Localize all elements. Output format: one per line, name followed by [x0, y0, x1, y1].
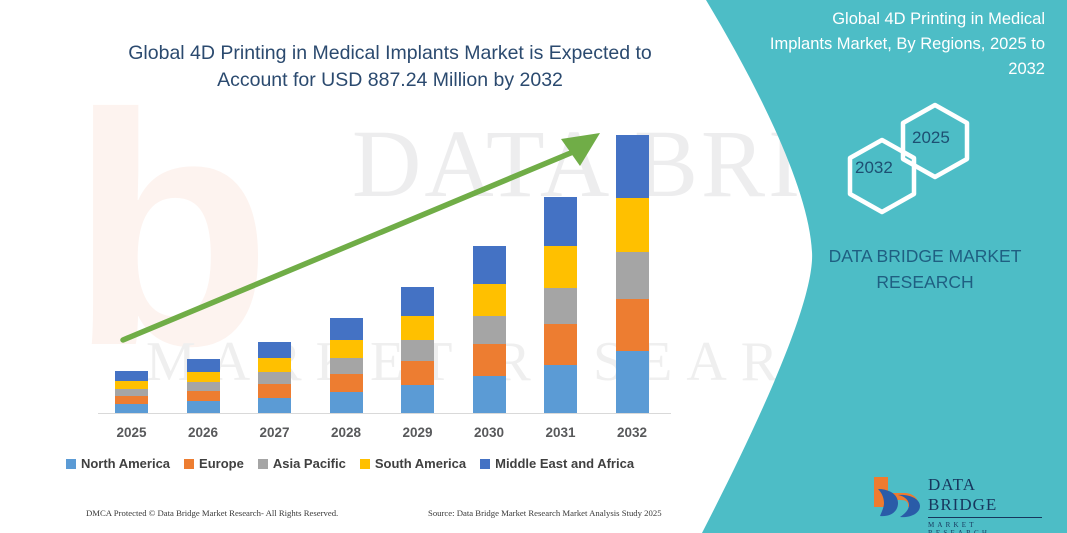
x-axis-label-2030: 2030: [459, 425, 519, 440]
bar-segment-europe: [187, 391, 220, 401]
infographic-root: b DATA BRIDGE MARKET RESEARCH Global 4D …: [0, 0, 1067, 533]
bar-segment-asia-pacific: [401, 340, 434, 361]
x-axis-label-2026: 2026: [173, 425, 233, 440]
bar-segment-asia-pacific: [473, 316, 506, 344]
footer-source: Source: Data Bridge Market Research Mark…: [428, 508, 662, 518]
bar-segment-south-america: [115, 381, 148, 389]
hexagon-badges: 2032 2025: [820, 100, 1000, 215]
bar-segment-south-america: [544, 246, 577, 288]
chart-legend: North AmericaEuropeAsia PacificSouth Ame…: [0, 455, 700, 477]
bar-segment-europe: [401, 361, 434, 385]
legend-swatch-icon: [480, 459, 490, 469]
footer-copyright: DMCA Protected © Data Bridge Market Rese…: [86, 508, 338, 518]
bar-2031: [544, 197, 577, 413]
bar-segment-europe: [330, 374, 363, 392]
logo-text: DATA BRIDGE MARKET RESEARCH: [928, 475, 1043, 533]
bar-segment-north-america: [115, 404, 148, 413]
logo-divider: [928, 517, 1042, 518]
legend-label: Europe: [199, 456, 244, 471]
bar-segment-middle-east-and-africa: [401, 287, 434, 316]
bar-2028: [330, 318, 363, 413]
bar-segment-europe: [258, 384, 291, 397]
bar-2027: [258, 342, 291, 413]
bar-2026: [187, 359, 220, 413]
x-axis-labels: 20252026202720282029203020312032: [0, 425, 700, 445]
logo-subtitle: MARKET RESEARCH: [928, 521, 1043, 533]
x-axis-label-2025: 2025: [102, 425, 162, 440]
bar-segment-south-america: [473, 284, 506, 316]
legend-label: Asia Pacific: [273, 456, 346, 471]
bar-segment-north-america: [330, 392, 363, 413]
x-axis-label-2027: 2027: [245, 425, 305, 440]
bar-segment-north-america: [473, 376, 506, 413]
legend-item-europe[interactable]: Europe: [184, 455, 244, 473]
legend-label: Middle East and Africa: [495, 456, 634, 471]
legend-label: South America: [375, 456, 466, 471]
hex-label-2025: 2025: [912, 128, 950, 148]
bar-segment-north-america: [544, 365, 577, 413]
chart-plot-area: 20252026202720282029203020312032 North A…: [0, 0, 700, 470]
bar-segment-asia-pacific: [258, 372, 291, 384]
bar-segment-middle-east-and-africa: [115, 371, 148, 381]
panel-brand-name: DATA BRIDGE MARKET RESEARCH: [810, 243, 1040, 295]
legend-label: North America: [81, 456, 170, 471]
panel-brand-line2: RESEARCH: [810, 269, 1040, 295]
chart-baseline: [98, 413, 671, 414]
legend-item-south-america[interactable]: South America: [360, 455, 466, 473]
legend-swatch-icon: [258, 459, 268, 469]
bar-segment-south-america: [258, 358, 291, 372]
bar-segment-south-america: [330, 340, 363, 358]
bar-segment-middle-east-and-africa: [544, 197, 577, 246]
bar-segment-south-america: [187, 372, 220, 383]
panel-title: Global 4D Printing in Medical Implants M…: [767, 7, 1045, 82]
bar-segment-north-america: [258, 398, 291, 413]
x-axis-label-2028: 2028: [316, 425, 376, 440]
legend-item-asia-pacific[interactable]: Asia Pacific: [258, 455, 346, 473]
bar-2030: [473, 246, 506, 413]
bar-segment-europe: [544, 324, 577, 365]
stacked-bars: [0, 0, 700, 413]
panel-brand-line1: DATA BRIDGE MARKET: [810, 243, 1040, 269]
legend-item-north-america[interactable]: North America: [66, 455, 170, 473]
bar-segment-europe: [473, 344, 506, 376]
bar-segment-europe: [115, 396, 148, 404]
bar-segment-asia-pacific: [187, 382, 220, 391]
bar-segment-north-america: [187, 401, 220, 413]
legend-item-middle-east-and-africa[interactable]: Middle East and Africa: [480, 455, 634, 473]
bar-segment-middle-east-and-africa: [473, 246, 506, 284]
bar-segment-north-america: [401, 385, 434, 413]
bar-segment-south-america: [401, 316, 434, 341]
bar-2025: [115, 371, 148, 413]
logo-title: DATA BRIDGE: [928, 475, 1043, 515]
hex-label-2032: 2032: [855, 158, 893, 178]
bar-segment-middle-east-and-africa: [330, 318, 363, 340]
logo-mark-icon: [868, 473, 924, 519]
bar-segment-asia-pacific: [330, 358, 363, 374]
bar-segment-middle-east-and-africa: [187, 359, 220, 372]
x-axis-label-2031: 2031: [531, 425, 591, 440]
bar-segment-asia-pacific: [544, 288, 577, 324]
company-logo: DATA BRIDGE MARKET RESEARCH: [868, 473, 1043, 519]
bar-segment-middle-east-and-africa: [258, 342, 291, 358]
x-axis-label-2029: 2029: [388, 425, 448, 440]
legend-swatch-icon: [66, 459, 76, 469]
bar-2029: [401, 287, 434, 413]
bar-segment-asia-pacific: [115, 389, 148, 396]
legend-swatch-icon: [184, 459, 194, 469]
legend-swatch-icon: [360, 459, 370, 469]
